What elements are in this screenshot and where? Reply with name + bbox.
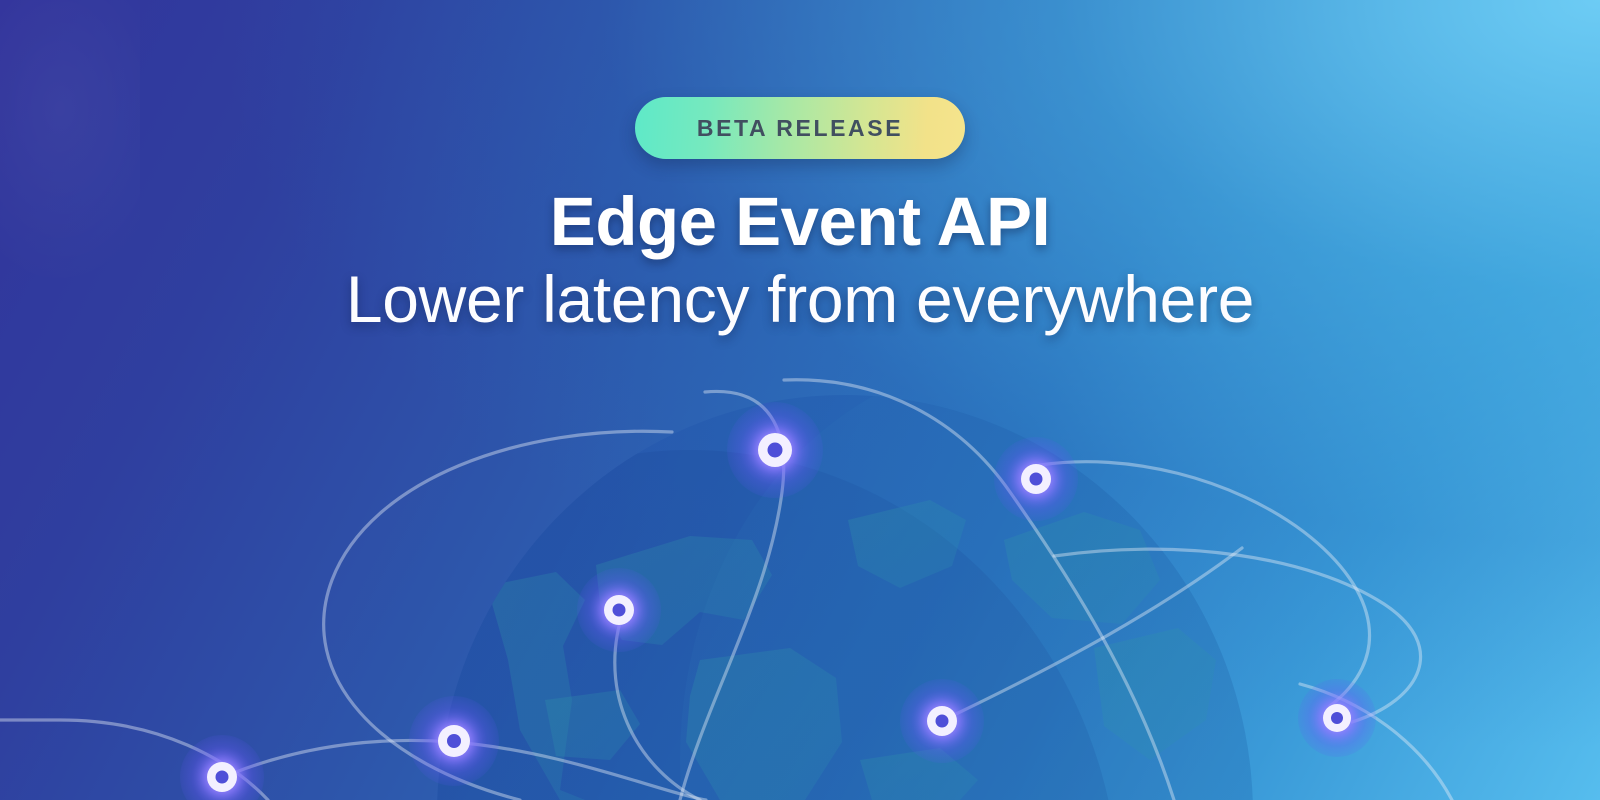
node-core (216, 771, 229, 784)
beta-release-badge: BETA RELEASE (635, 97, 965, 159)
hero-banner: BETA RELEASE Edge Event API Lower latenc… (0, 0, 1600, 800)
node-core (768, 443, 783, 458)
node-core (613, 604, 626, 617)
node-core (447, 734, 461, 748)
node-core (1331, 712, 1343, 724)
page-subtitle: Lower latency from everywhere (346, 263, 1254, 337)
node-core (936, 715, 949, 728)
page-title: Edge Event API (550, 186, 1050, 257)
node-core (1030, 473, 1043, 486)
hero-content: BETA RELEASE Edge Event API Lower latenc… (0, 0, 1600, 337)
